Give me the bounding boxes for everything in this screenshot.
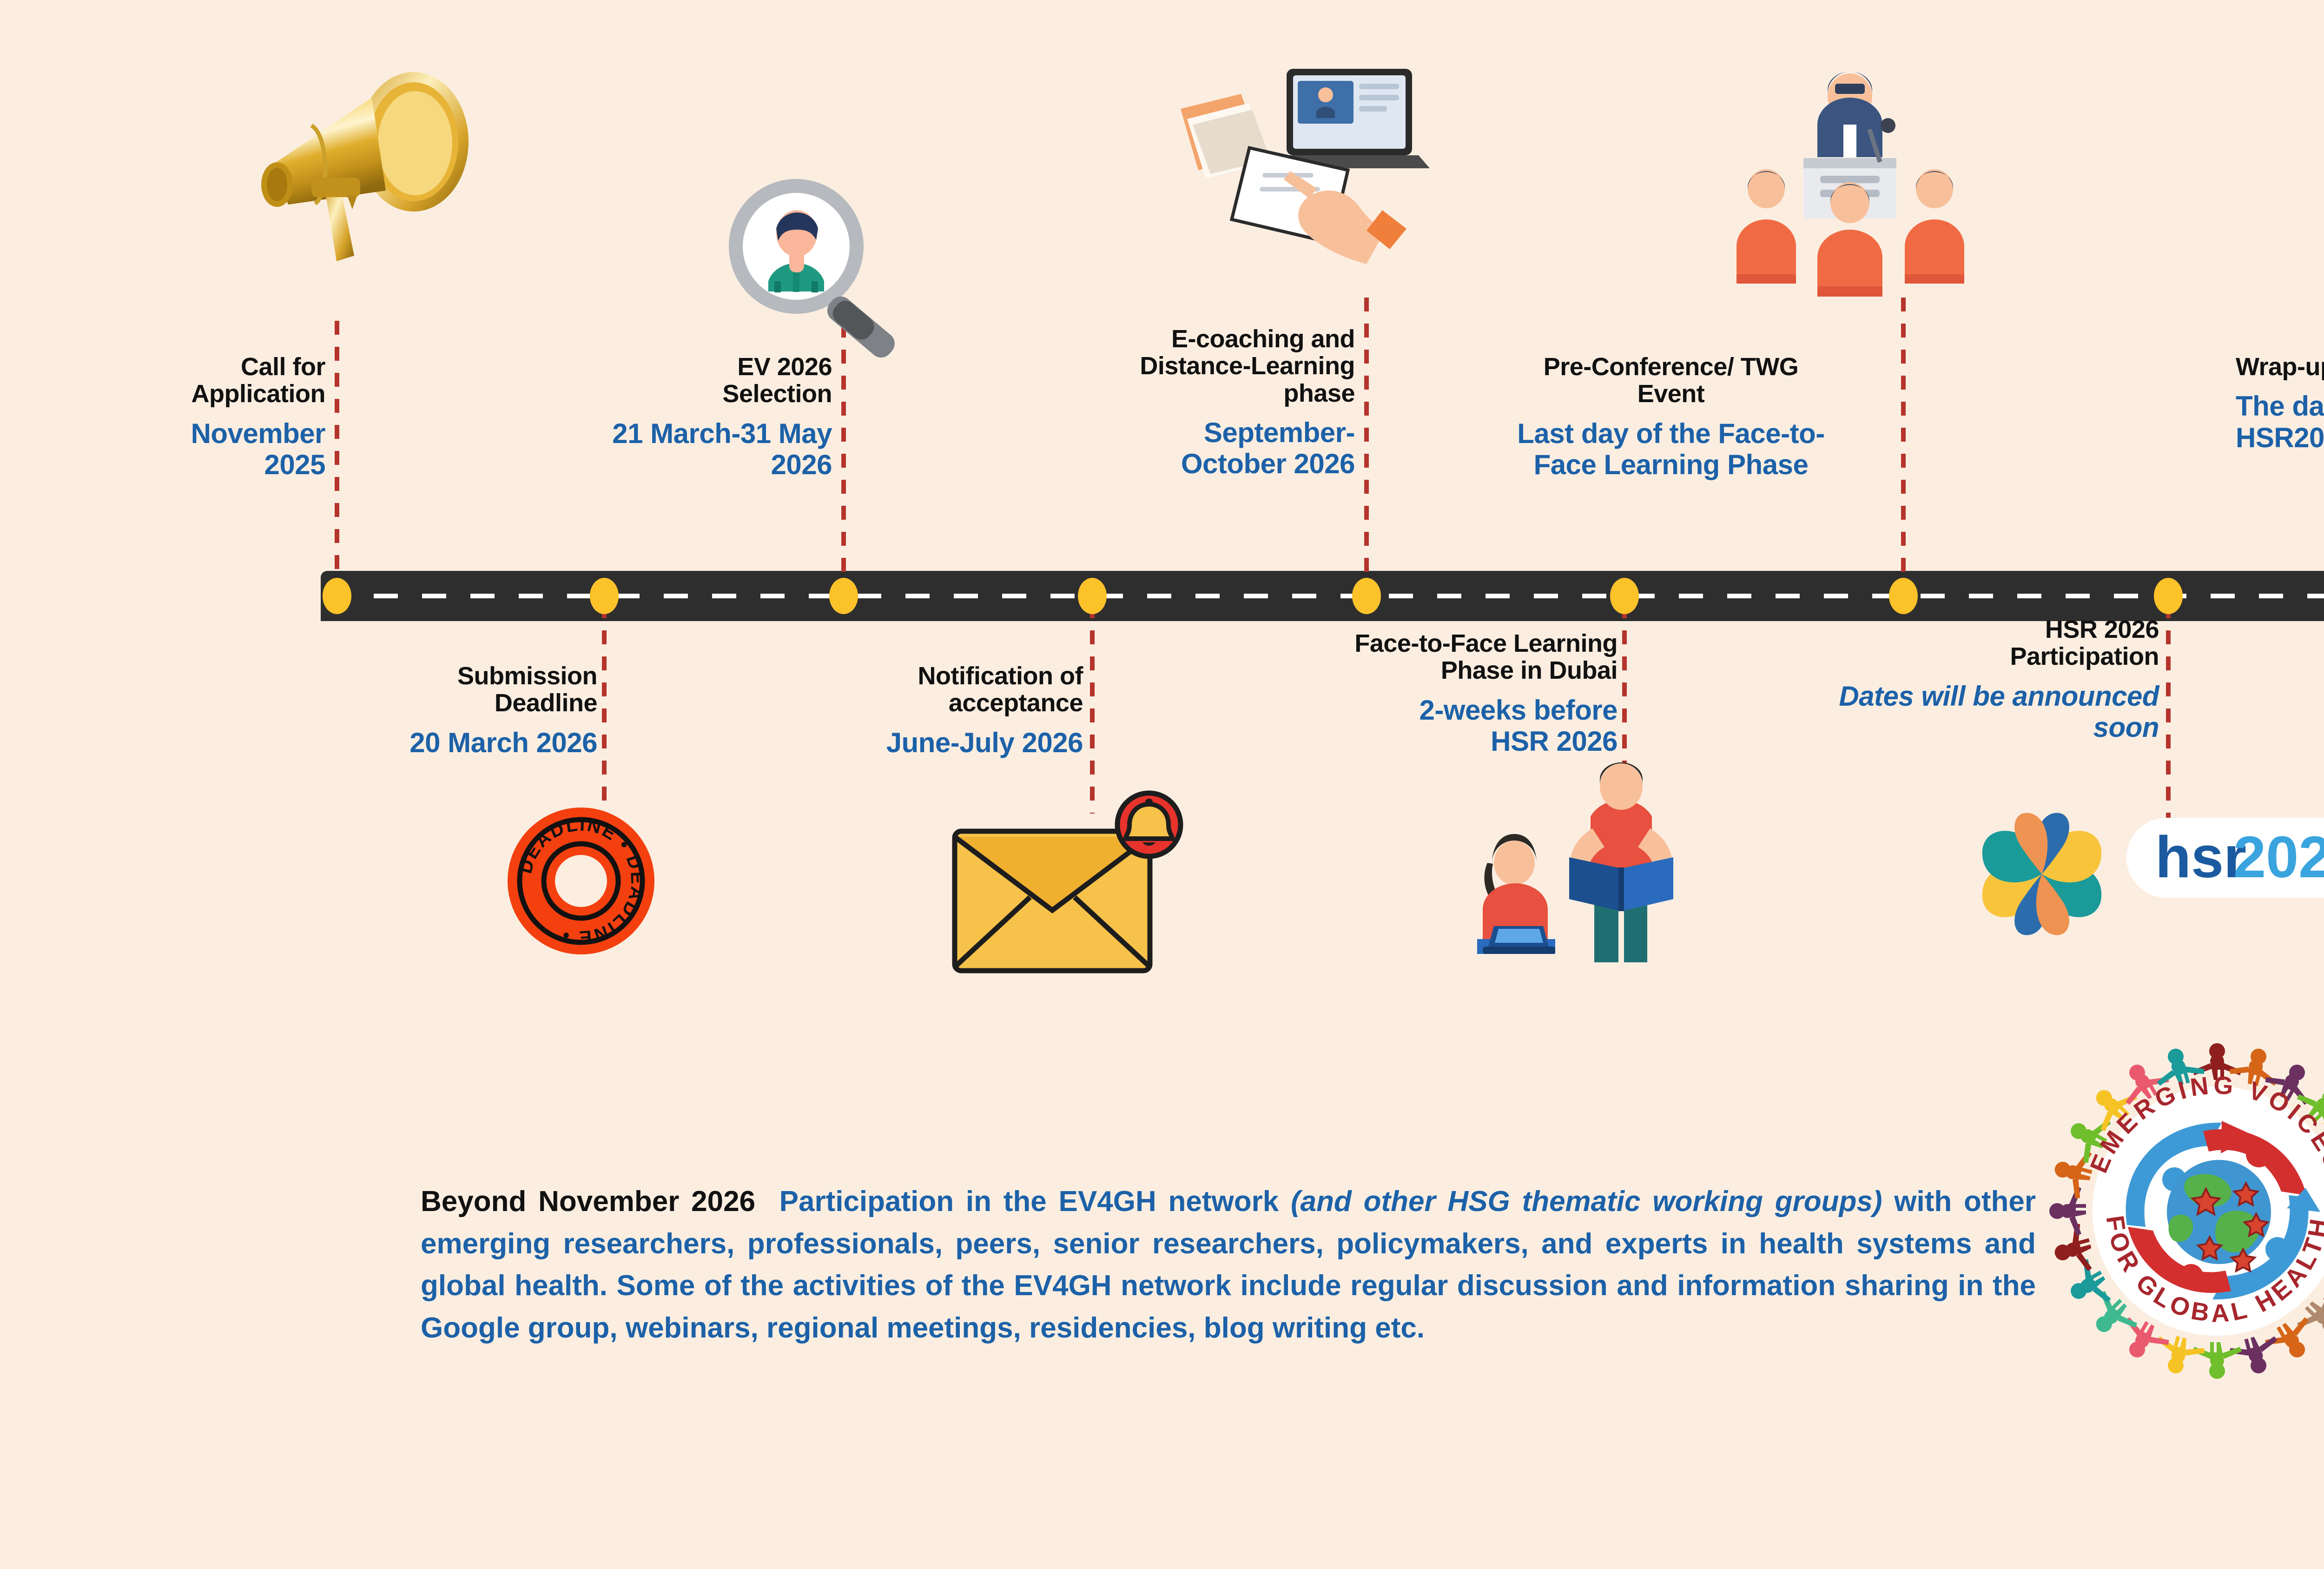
milestone-dot-8[interactable] [2154,578,2183,614]
label-title: Pre-Conference/ TWGEvent [1446,353,1896,408]
magnifier-person-icon [720,177,915,358]
milestone-dot-7[interactable] [1889,578,1918,614]
label-title: SubmissionDeadline [344,662,597,717]
hsr2026-logo: hsr 2026 [1973,807,2324,941]
deadline-stamp-icon: DEADLINE • DEADLINE • [507,807,655,955]
footer-body-1: Participation in the EV4GH network [779,1185,1291,1218]
label-title: HSR 2026Participation [1762,616,2159,670]
label-date: Last day of the Face-to-Face Learning Ph… [1446,418,1896,480]
milestone-dot-1[interactable] [323,578,351,614]
milestone-dot-6[interactable] [1610,578,1639,614]
students-learning-icon [1455,744,1697,986]
ev4gh-logo: EMERGING VOICES FOR GLOBAL HEALTH [2036,1030,2324,1392]
label-date: September-October 2026 [995,417,1355,479]
connector-hsr-participation [2166,604,2171,832]
podium-presentation-icon [1724,70,1975,307]
footer-body-italic: (and other HSG thematic working groups) [1291,1185,1882,1218]
connector-submission-deadline [602,604,607,837]
label-title: E-coaching andDistance-Learningphase [995,325,1355,407]
label-date: The day after theHSR2026 symposium [2236,391,2324,453]
label-ev-2026-selection: EV 2026Selection 21 March-31 May2026 [488,353,832,480]
label-hsr-2026-participation: HSR 2026Participation Dates will be anno… [1762,616,2159,743]
road-center-dashes-top [325,594,2324,598]
label-date: 20 March 2026 [344,727,597,758]
label-notification-of-acceptance: Notification ofacceptance June-July 2026 [786,662,1083,758]
label-title: Face-to-Face LearningPhase in Dubai [1197,630,1618,684]
label-e-coaching-distance-learning: E-coaching andDistance-Learningphase Sep… [995,325,1355,479]
laptop-online-learning-icon [1171,60,1432,307]
label-title: Wrap-up session [2236,353,2324,380]
label-date: 2-weeks beforeHSR 2026 [1197,695,1618,757]
connector-pre-conference [1901,298,1906,600]
megaphone-icon [232,70,474,288]
footer-lead: Beyond November 2026 [421,1185,755,1218]
label-title: EV 2026Selection [488,353,832,408]
connector-call-for-application [335,321,339,600]
label-submission-deadline: SubmissionDeadline 20 March 2026 [344,662,597,758]
connector-e-coaching [1364,298,1369,600]
label-call-for-application: Call forApplication November2025 [121,353,325,480]
label-date: June-July 2026 [786,727,1083,758]
label-face-to-face-learning-phase: Face-to-Face LearningPhase in Dubai 2-we… [1197,630,1618,757]
milestone-dot-5[interactable] [1352,578,1381,614]
envelope-notification-icon [948,790,1199,986]
hsr-logo-primary: hsr [2155,824,2246,890]
label-title: Notification ofacceptance [786,662,1083,717]
label-pre-conference-twg-event: Pre-Conference/ TWGEvent Last day of the… [1446,353,1896,480]
milestone-dot-3[interactable] [829,578,858,614]
label-title: Call forApplication [121,353,325,408]
label-date: Dates will be announcedsoon [1762,681,2159,743]
label-date: November2025 [121,418,325,480]
label-wrap-up-session: Wrap-up session The day after theHSR2026… [2236,353,2324,453]
hsr-logo-secondary: 2026 [2233,824,2324,890]
milestone-dot-4[interactable] [1078,578,1107,614]
footer-paragraph: Beyond November 2026 Participation in th… [421,1181,2036,1349]
milestone-dot-2[interactable] [590,578,619,614]
connector-notification [1090,604,1095,814]
label-date: 21 March-31 May2026 [488,418,832,480]
